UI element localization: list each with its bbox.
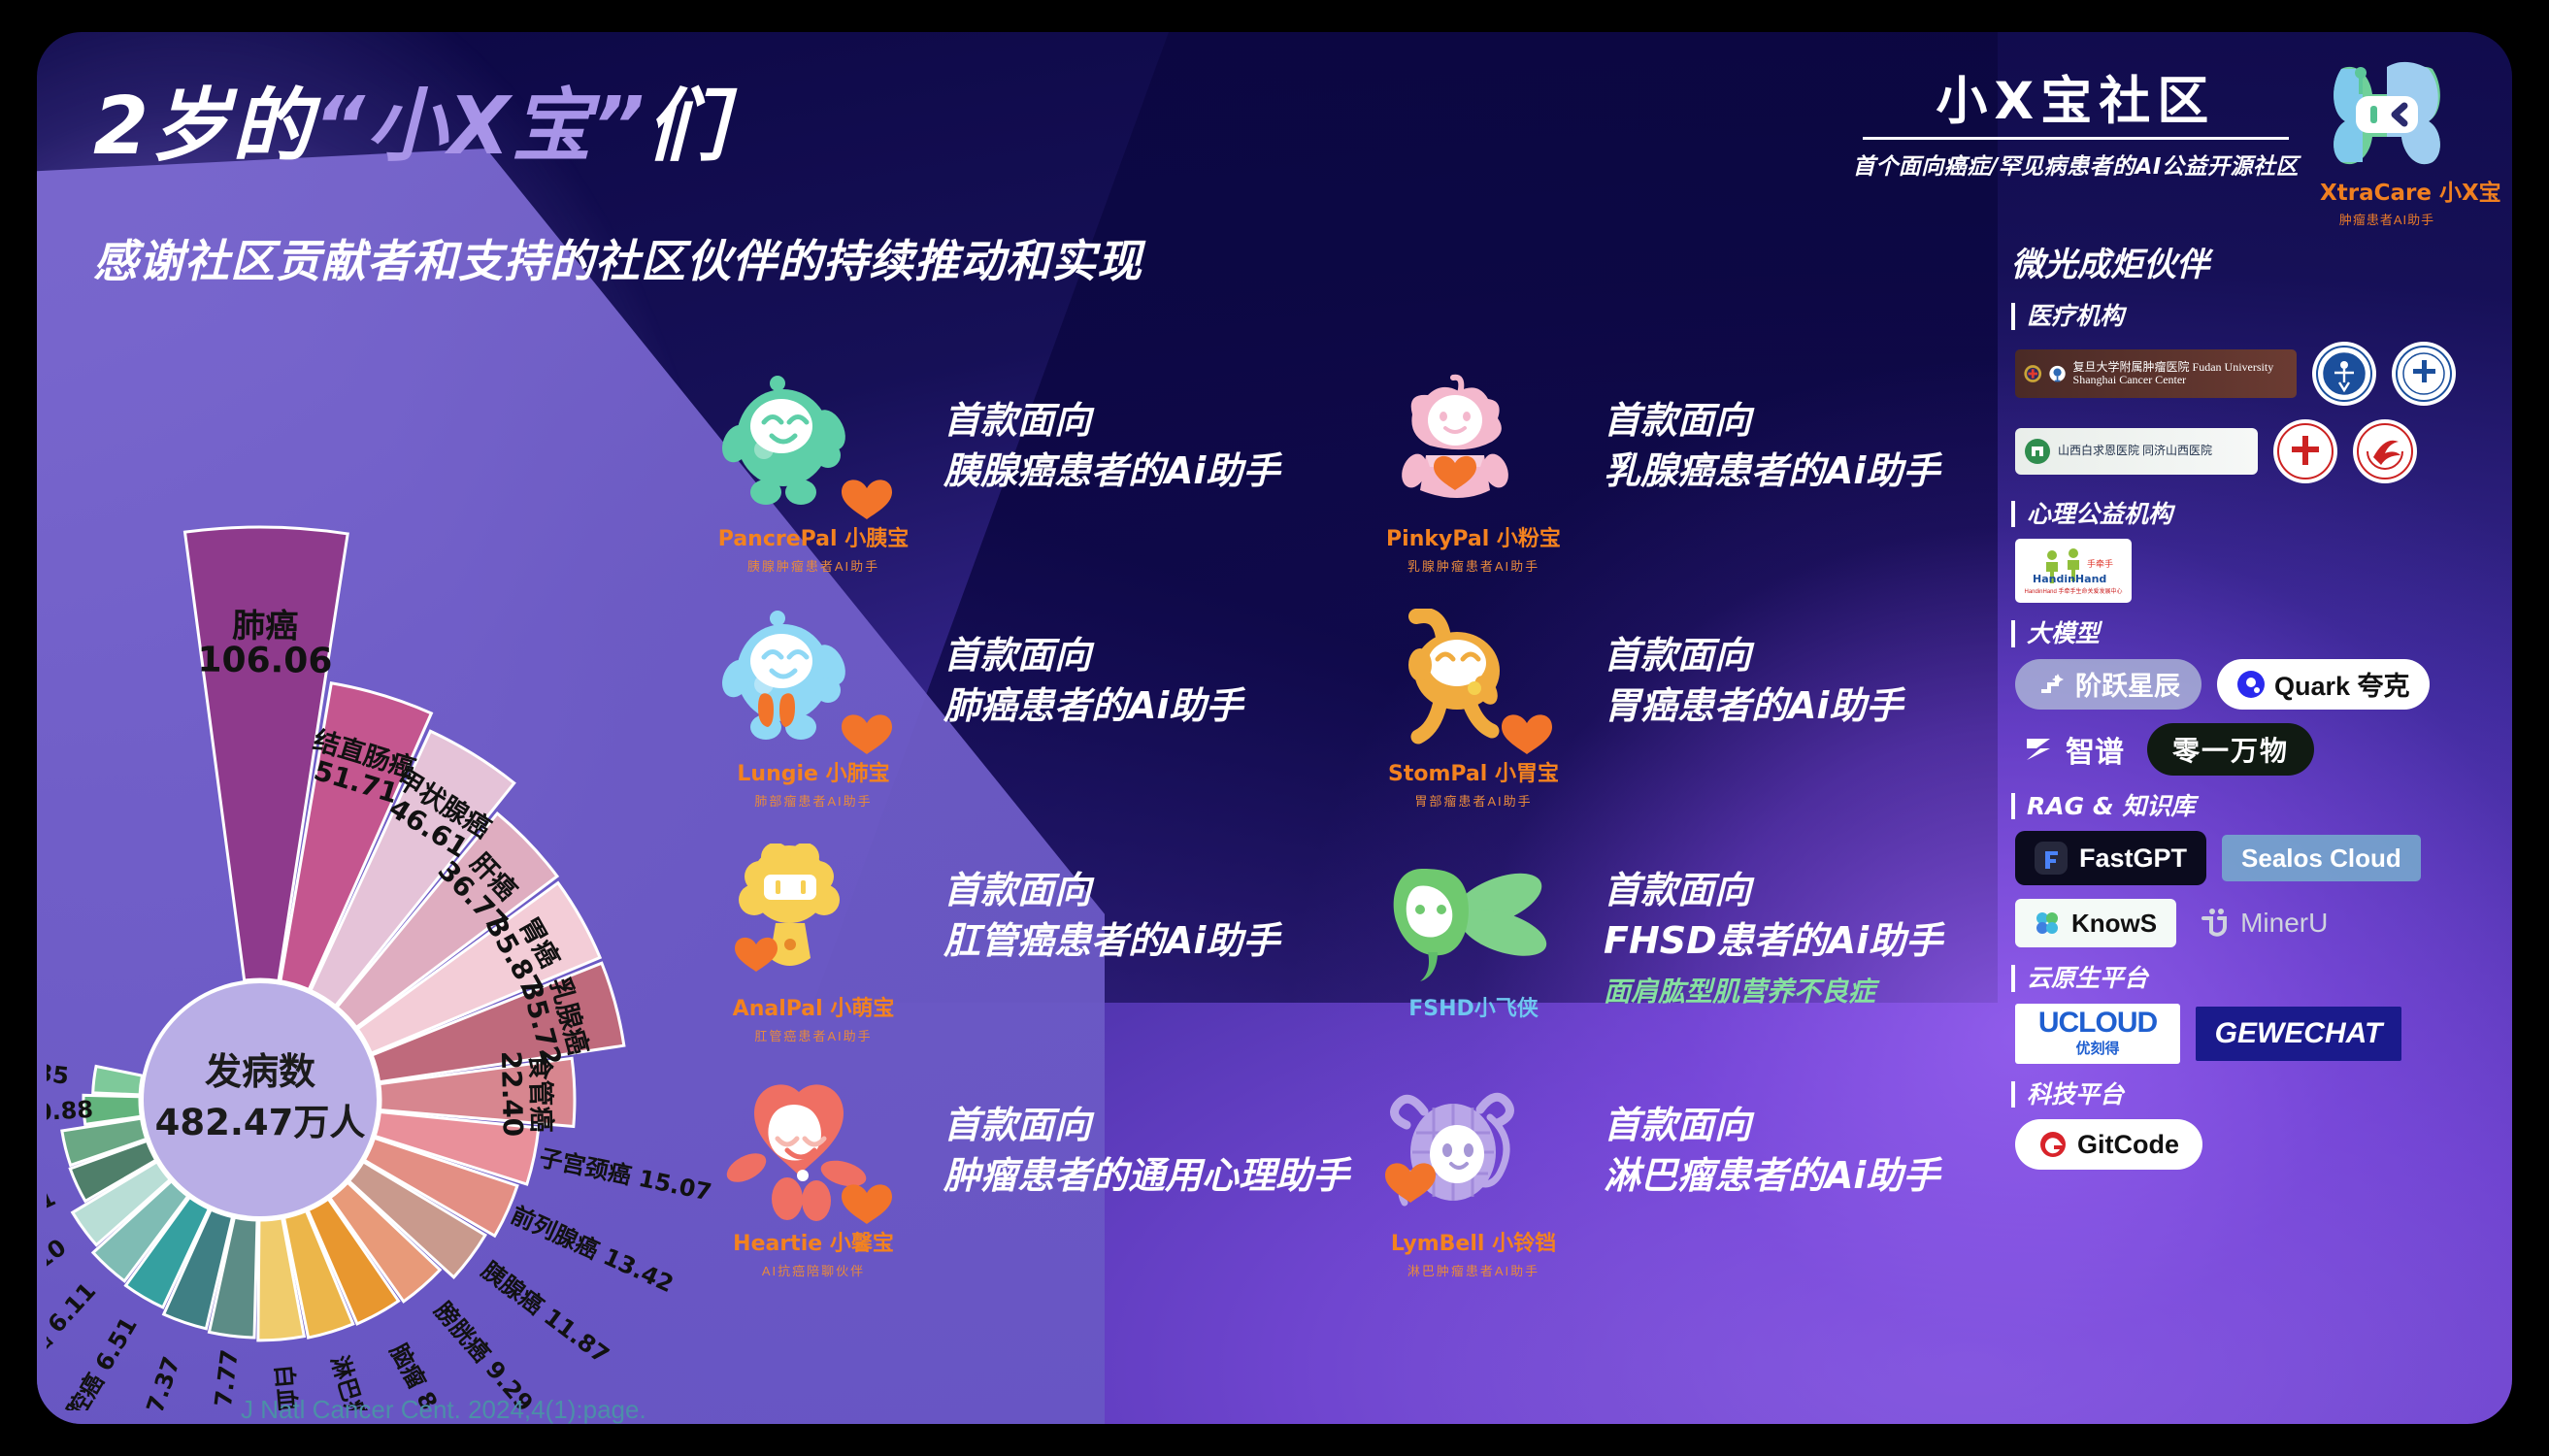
mascot-subtitle: 淋巴肿瘤患者AI助手 <box>1376 1261 1571 1279</box>
mascot-subtitle: 胰腺肿瘤患者AI助手 <box>716 556 910 575</box>
partners-section-heading: 云原生平台 <box>2011 965 2512 992</box>
partner-logo-01ai[interactable]: 零一万物 <box>2147 723 2314 776</box>
poster-canvas: 2岁的“小X宝”们 感谢社区贡献者和支持的社区伙伴的持续推动和实现 小X宝社区 … <box>37 32 2512 1424</box>
mascot-line-2: 肿瘤患者的通用心理助手 <box>943 1150 1349 1201</box>
mascot-line-1: 首款面向 <box>1604 630 1903 680</box>
mascot-line-1: 首款面向 <box>1604 1100 1939 1150</box>
mascot-line-1: 首款面向 <box>943 630 1242 680</box>
partner-label: 阶跃星辰 <box>2075 665 2180 703</box>
svg-text:子宫体癌 7.77: 子宫体癌 7.77 <box>197 1348 243 1410</box>
partner-label: 优刻得 <box>2075 1038 2119 1058</box>
svg-text:106.06: 106.06 <box>197 640 332 680</box>
brand-name: 小X宝社区 <box>1853 73 2299 130</box>
svg-text:手牵手: 手牵手 <box>2087 558 2113 570</box>
brand-logo-block: XtraCare 小X宝 肿瘤患者AI助手 <box>2320 61 2454 228</box>
brand-logo-name: XtraCare 小X宝 <box>2320 174 2454 207</box>
mascot-column-2: PinkyPal 小粉宝乳腺肿瘤患者AI助手首款面向乳腺癌患者的Ai助手 Sto… <box>1376 370 2056 1309</box>
mascot-line-2: 胃癌患者的Ai助手 <box>1604 680 1903 731</box>
chart-wedge-label: 膀胱癌 9.29 <box>428 1296 538 1410</box>
partners-section-heading: 医疗机构 <box>2011 303 2512 330</box>
partners-section: 科技平台 GitCode <box>2000 1081 2512 1171</box>
mascot-name: AnalPal 小萌宝 <box>716 991 910 1022</box>
chart-wedge-label: 睾丸癌 0.35 <box>47 1046 70 1090</box>
partner-logo-quark[interactable]: Quark 夸克 <box>2217 659 2430 710</box>
mascot-line-1: 首款面向 <box>943 395 1279 446</box>
partners-section-items: 复旦大学附属肿瘤医院 Fudan University Shanghai Can… <box>2015 342 2512 483</box>
nightingale-chart: 肺癌106.06结直肠癌51.71甲状腺癌46.61肝癌36.77胃癌35.87… <box>47 323 745 1410</box>
partners-title: 微光成炬伙伴 <box>2011 238 2512 285</box>
partner-label: Quark 夸克 <box>2274 665 2410 703</box>
mascot-row: LymBell 小铃铛淋巴肿瘤患者AI助手首款面向淋巴瘤患者的Ai助手 <box>1376 1075 2056 1276</box>
svg-text:22.40: 22.40 <box>495 1050 529 1137</box>
page-title: 2岁的“小X宝”们 <box>93 61 728 177</box>
mascot-line-1: 首款面向 <box>943 865 1279 915</box>
mascot-name: LymBell 小铃铛 <box>1376 1226 1571 1257</box>
mascot-line-2: FHSD患者的Ai助手 <box>1604 915 1942 966</box>
mascot-description: 首款面向乳腺癌患者的Ai助手 <box>1571 370 1939 497</box>
mascot-name: StomPal 小胃宝 <box>1376 756 1571 787</box>
partner-label: 智谱 <box>2066 728 2124 771</box>
mascot-art: StomPal 小胃宝胃部瘤患者AI助手 <box>1376 605 1571 810</box>
partners-section-heading: 心理公益机构 <box>2011 501 2512 528</box>
partner-logo-handinhand[interactable]: 手牵手 HandinHand HandinHand 手牵手生命关爱发展中心 <box>2015 539 2132 603</box>
svg-text:肾癌 7.37: 肾癌 7.37 <box>124 1353 186 1410</box>
mascot-subtitle: AI抗癌陪聊伙伴 <box>716 1261 910 1279</box>
partner-label: HandinHand 手牵手生命关爱发展中心 <box>2024 586 2122 595</box>
partner-logo-gitcode[interactable]: GitCode <box>2015 1119 2202 1170</box>
mascot-row: PinkyPal 小粉宝乳腺肿瘤患者AI助手首款面向乳腺癌患者的Ai助手 <box>1376 370 2056 572</box>
mascot-line-2: 肺癌患者的Ai助手 <box>943 680 1242 731</box>
partners-section: 大模型 阶跃星辰 Quark 夸克 智谱零一万物 <box>2000 620 2512 776</box>
chart-wedge-label: 子宫体癌 7.77 <box>197 1348 243 1410</box>
page-title-part1: 2岁的 <box>93 81 314 173</box>
xtracare-logo-icon <box>2328 61 2446 168</box>
partners-section: 云原生平台UCLOUD 优刻得GEWECHAT <box>2000 965 2512 1064</box>
mascot-subtitle: 乳腺肿瘤患者AI助手 <box>1376 556 1571 575</box>
partners-section: 医疗机构 复旦大学附属肿瘤医院 Fudan University Shangha… <box>2000 303 2512 483</box>
chart-citation: J Natl Cancer Cent. 2024,4(1):page. <box>241 1395 646 1424</box>
partner-logo-gewechat[interactable]: GEWECHAT <box>2196 1007 2401 1061</box>
brand-text: 小X宝社区 首个面向癌症/罕见病患者的AI公益开源社区 <box>1853 61 2299 181</box>
mascot-line-1: 首款面向 <box>1604 865 1942 915</box>
partners-sidebar: 微光成炬伙伴 医疗机构 复旦大学附属肿瘤医院 Fudan University … <box>2000 238 2512 1422</box>
chart-wedge-label: 肾癌 7.37 <box>124 1353 186 1410</box>
page-subtitle: 感谢社区贡献者和支持的社区伙伴的持续推动和实现 <box>93 226 1142 290</box>
page-title-part2: “小X宝” <box>314 81 646 173</box>
mascot-line-2: 肛管癌患者的Ai助手 <box>943 915 1279 966</box>
partner-label: 复旦大学附属肿瘤医院 Fudan University Shanghai Can… <box>2073 361 2289 385</box>
mascot-row: StomPal 小胃宝胃部瘤患者AI助手首款面向胃癌患者的Ai助手 <box>1376 605 2056 807</box>
mascot-art: LymBell 小铃铛淋巴肿瘤患者AI助手 <box>1376 1075 1571 1279</box>
svg-text:前列腺癌 13.42: 前列腺癌 13.42 <box>507 1202 678 1299</box>
mascot-name: PancrePal 小胰宝 <box>716 521 910 552</box>
mascot-line-2: 淋巴瘤患者的Ai助手 <box>1604 1150 1939 1201</box>
svg-text:膀胱癌 9.29: 膀胱癌 9.29 <box>428 1296 538 1410</box>
partner-label: MinerU <box>2240 908 2328 939</box>
mascot-art: Lungie 小肺宝肺部瘤患者AI助手 <box>716 605 910 810</box>
mascot-art: PinkyPal 小粉宝乳腺肿瘤患者AI助手 <box>1376 370 1571 575</box>
partner-logo-fastgpt[interactable]: FastGPT <box>2015 831 2206 885</box>
mascot-line-2: 乳腺癌患者的Ai助手 <box>1604 446 1939 496</box>
partners-section: 心理公益机构 手牵手 HandinHand HandinHand 手牵手生命关爱… <box>2000 501 2512 604</box>
mascot-row: PancrePal 小胰宝胰腺肿瘤患者AI助手首款面向胰腺癌患者的Ai助手 <box>716 370 1396 572</box>
chart-wedge <box>93 1066 143 1094</box>
mascot-line-1: 首款面向 <box>1604 395 1939 446</box>
chart-svg: 肺癌106.06结直肠癌51.71甲状腺癌46.61肝癌36.77胃癌35.87… <box>47 323 745 1410</box>
mascot-art: AnalPal 小萌宝肛管癌患者AI助手 <box>716 840 910 1044</box>
partner-logo-knows[interactable]: KnowS <box>2015 899 2176 947</box>
partners-section-heading: 科技平台 <box>2011 1081 2512 1109</box>
mascot-line-2: 胰腺癌患者的Ai助手 <box>943 446 1279 496</box>
partners-section-heading: RAG & 知识库 <box>2011 793 2512 820</box>
partner-label: FastGPT <box>2079 844 2187 874</box>
mascot-description: 首款面向肛管癌患者的Ai助手 <box>910 840 1279 967</box>
brand-tagline: 首个面向癌症/罕见病患者的AI公益开源社区 <box>1853 148 2299 181</box>
partner-logo-fudan-cancer-center[interactable]: 复旦大学附属肿瘤医院 Fudan University Shanghai Can… <box>2015 349 2297 398</box>
svg-text:子宫颈癌 15.07: 子宫颈癌 15.07 <box>537 1144 713 1207</box>
mascot-name: Heartie 小馨宝 <box>716 1226 910 1257</box>
brand-divider <box>1863 137 2289 140</box>
mascot-subtitle: 肺部瘤患者AI助手 <box>716 791 910 810</box>
mascot-name: PinkyPal 小粉宝 <box>1376 521 1571 552</box>
mascot-subtitle: 胃部瘤患者AI助手 <box>1376 791 1571 810</box>
brand-block: 小X宝社区 首个面向癌症/罕见病患者的AI公益开源社区 <box>1853 61 2454 228</box>
brand-logo-sub: 肿瘤患者AI助手 <box>2320 210 2454 228</box>
mascot-row: FSHD小飞侠首款面向FHSD患者的Ai助手面肩肱型肌营养不良症 <box>1376 840 2056 1042</box>
partner-logo-ucloud[interactable]: UCLOUD 优刻得 <box>2015 1004 2180 1064</box>
mascot-description: 首款面向肿瘤患者的通用心理助手 <box>910 1075 1349 1202</box>
mascot-row: Lungie 小肺宝肺部瘤患者AI助手首款面向肺癌患者的Ai助手 <box>716 605 1396 807</box>
svg-text:HandinHand: HandinHand <box>2033 573 2106 585</box>
partner-label: 零一万物 <box>2172 730 2289 769</box>
mascot-name: FSHD小飞侠 <box>1376 991 1571 1022</box>
partners-section-items: FastGPTSealos Cloud KnowS MinerU <box>2015 831 2512 947</box>
partners-section-items: 手牵手 HandinHand HandinHand 手牵手生命关爱发展中心 <box>2015 539 2512 603</box>
mascot-art: FSHD小飞侠 <box>1376 840 1571 1022</box>
chart-center-title: 发病数 <box>205 1050 315 1093</box>
page-title-part3: 们 <box>646 81 728 173</box>
partner-logo-pudong-gongli-hospital[interactable] <box>2273 419 2337 483</box>
partners-section-items: 阶跃星辰 Quark 夸克 智谱零一万物 <box>2015 659 2512 776</box>
mascot-line-3: 面肩肱型肌营养不良症 <box>1604 971 1942 1009</box>
mascot-line-1: 首款面向 <box>943 1100 1349 1150</box>
mascot-description: 首款面向肺癌患者的Ai助手 <box>910 605 1242 732</box>
partners-section-items: GitCode <box>2015 1119 2512 1170</box>
partner-logo-stepfun[interactable]: 阶跃星辰 <box>2015 659 2201 710</box>
chart-wedge-label: 前列腺癌 13.42 <box>507 1202 678 1299</box>
partner-logo-ruijin-hospital[interactable] <box>2312 342 2376 406</box>
partners-section: RAG & 知识库 FastGPTSealos Cloud KnowS Mine… <box>2000 793 2512 948</box>
mascot-name: Lungie 小肺宝 <box>716 756 910 787</box>
svg-text:睾丸癌 0.35: 睾丸癌 0.35 <box>47 1046 70 1090</box>
mascot-description: 首款面向FHSD患者的Ai助手面肩肱型肌营养不良症 <box>1571 840 1942 1009</box>
partner-logo-zhipu[interactable]: 智谱 <box>2015 724 2132 775</box>
partner-label: 山西白求恩医院 同济山西医院 <box>2058 445 2212 457</box>
partner-label: GEWECHAT <box>2215 1017 2383 1050</box>
partner-logo-mineru[interactable]: MinerU <box>2192 899 2334 947</box>
mascot-description: 首款面向胰腺癌患者的Ai助手 <box>910 370 1279 497</box>
chart-wedge-label: 食管癌22.40 <box>495 1050 557 1138</box>
partner-logo-tongji-hospital[interactable] <box>2392 342 2456 406</box>
mascot-column-1: PancrePal 小胰宝胰腺肿瘤患者AI助手首款面向胰腺癌患者的Ai助手 Lu… <box>716 370 1396 1309</box>
partner-label: GitCode <box>2077 1130 2179 1160</box>
partner-logo-hemei-hospital[interactable] <box>2353 419 2417 483</box>
chart-center-value: 482.47万人 <box>155 1102 366 1143</box>
partners-section-items: UCLOUD 优刻得GEWECHAT <box>2015 1004 2512 1064</box>
mascot-description: 首款面向淋巴瘤患者的Ai助手 <box>1571 1075 1939 1202</box>
partners-section-heading: 大模型 <box>2011 620 2512 647</box>
mascot-description: 首款面向胃癌患者的Ai助手 <box>1571 605 1903 732</box>
mascot-row: Heartie 小馨宝AI抗癌陪聊伙伴首款面向肿瘤患者的通用心理助手 <box>716 1075 1396 1276</box>
mascot-art: Heartie 小馨宝AI抗癌陪聊伙伴 <box>716 1075 910 1279</box>
chart-wedge-label: 子宫颈癌 15.07 <box>537 1144 713 1207</box>
partner-logo-shanxi-bethune-hospital[interactable]: 山西白求恩医院 同济山西医院 <box>2015 428 2258 475</box>
partner-logo-sealos-cloud[interactable]: Sealos Cloud <box>2222 835 2421 881</box>
chart-center-disc <box>142 981 379 1218</box>
mascot-subtitle: 肛管癌患者AI助手 <box>716 1026 910 1044</box>
partners-sections: 医疗机构 复旦大学附属肿瘤医院 Fudan University Shangha… <box>2000 303 2512 1170</box>
mascot-art: PancrePal 小胰宝胰腺肿瘤患者AI助手 <box>716 370 910 575</box>
mascot-row: AnalPal 小萌宝肛管癌患者AI助手首款面向肛管癌患者的Ai助手 <box>716 840 1396 1042</box>
partner-label: KnowS <box>2071 909 2157 939</box>
partner-label: Sealos Cloud <box>2241 844 2401 874</box>
